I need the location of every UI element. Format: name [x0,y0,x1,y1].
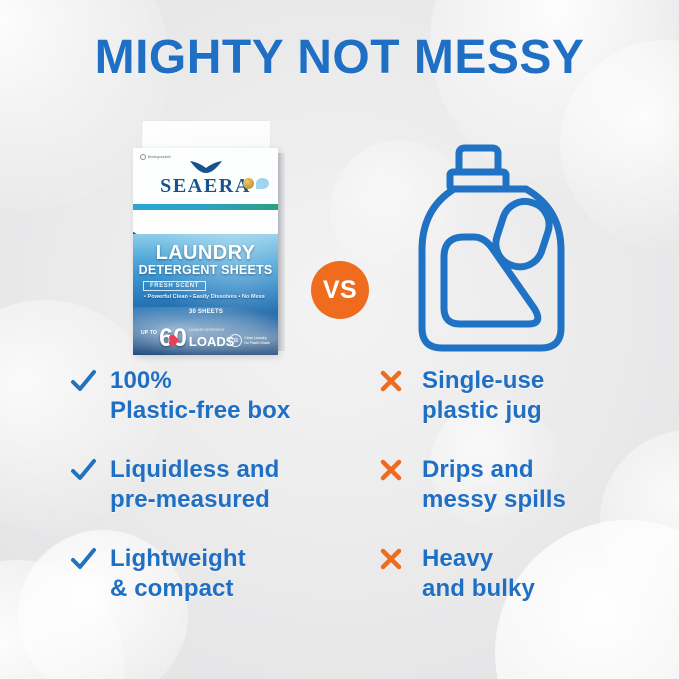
loads-count: 60 [159,328,187,349]
box-side-panel [278,153,285,351]
infographic-canvas: MIGHTY NOT MESSY Biodegradable SEAERA [0,0,679,679]
list-item-label: Liquidless and pre-measured [110,455,279,516]
whale-tail-logo-icon [189,160,223,174]
list-item: Heavy and bulky [378,544,648,605]
list-item: Drips and messy spills [378,455,648,516]
list-item-label: Lightweight & compact [110,544,246,605]
product-box-image: Biodegradable SEAERA LAUNDRY DETERGENT S… [133,120,283,355]
drawbacks-column: Single-use plastic jug Drips and messy s… [378,366,648,633]
sheets-count: 30 SHEETS [189,309,223,315]
loads-label: LOADS [189,336,235,348]
recycle-icon [140,154,146,160]
vs-label: VS [323,276,357,305]
biodegradable-label: Biodegradable [148,155,171,159]
list-item-label: Single-use plastic jug [422,366,544,427]
list-item: Single-use plastic jug [378,366,648,427]
award-seal-icon [243,178,254,189]
biodegradable-badge: Biodegradable [140,154,171,160]
award-badges [243,178,269,189]
page-title: MIGHTY NOT MESSY [0,34,679,82]
box-front-panel: Biodegradable SEAERA LAUNDRY DETERGENT S… [133,148,278,355]
list-item-label: Drips and messy spills [422,455,566,516]
list-item: Liquidless and pre-measured [70,455,360,516]
product-title: LAUNDRY [133,242,278,265]
loads-callout: UP TO 60 30 SHEETS LAUNDRY DETERGENT LOA… [141,300,234,349]
check-icon [70,455,96,485]
seal-text: Clean Laundry, No Plastic Waste [244,336,270,345]
comparison-lists: 100% Plastic-free box Liquidless and pre… [0,366,679,646]
scent-badge: FRESH SCENT [143,281,206,291]
product-subtitle: DETERGENT SHEETS [133,263,278,277]
eco-leaf-icon [256,178,269,189]
list-item: 100% Plastic-free box [70,366,360,427]
sheets-sublabel: LAUNDRY DETERGENT [189,328,225,332]
cross-icon [378,544,404,574]
list-item: Lightweight & compact [70,544,360,605]
leaf-seal-icon: ⚅ [229,334,242,347]
up-to-label: UP TO [141,330,157,336]
benefits-column: 100% Plastic-free box Liquidless and pre… [70,366,360,633]
cross-icon [378,455,404,485]
sustainability-seal: ⚅ Clean Laundry, No Plastic Waste [229,334,270,347]
check-icon [70,366,96,396]
cross-icon [378,366,404,396]
check-icon [70,544,96,574]
heart-icon [170,335,180,345]
vs-badge: VS [311,261,369,319]
list-item-label: 100% Plastic-free box [110,366,290,427]
plastic-jug-illustration-icon [414,132,569,357]
list-item-label: Heavy and bulky [422,544,535,605]
